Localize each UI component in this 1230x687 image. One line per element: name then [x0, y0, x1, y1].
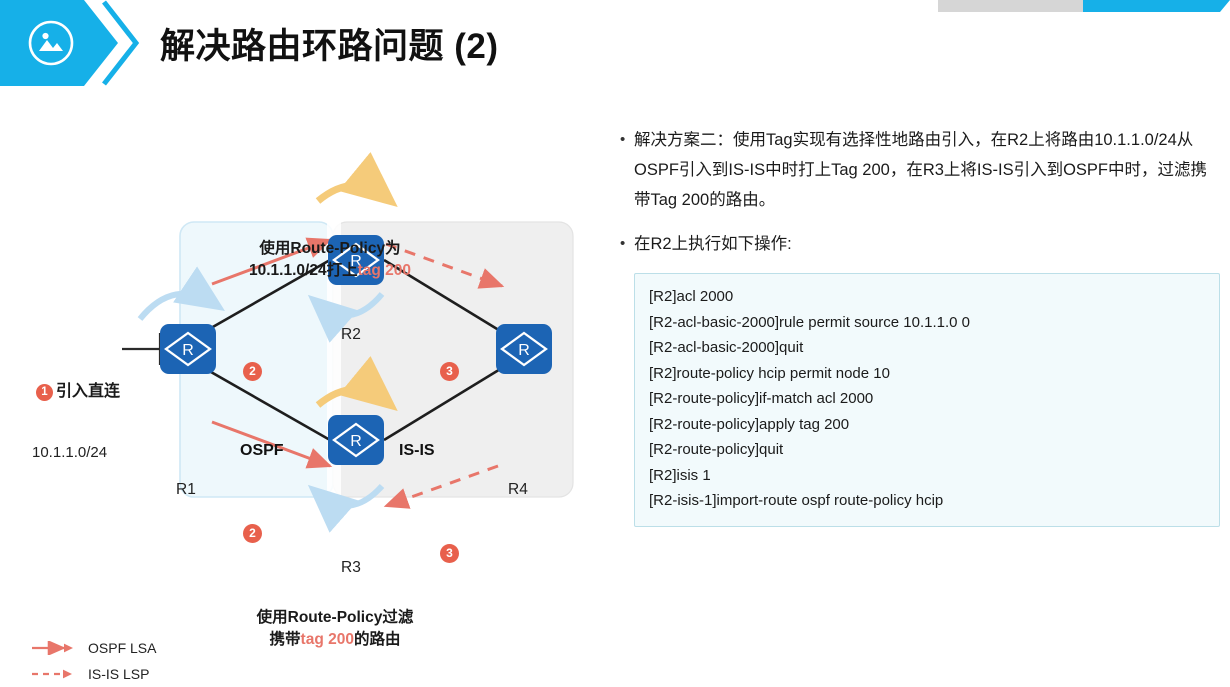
bullet-solution-text: 解决方案二：使用Tag实现有选择性地路由引入，在R2上将路由10.1.1.0/2… — [634, 125, 1220, 215]
header-chevron-icon — [100, 0, 144, 86]
introduce-text: 引入直连 — [56, 383, 120, 400]
zone-label-ospf: OSPF — [240, 442, 284, 460]
annotation-top-tag: tag 200 — [358, 262, 411, 279]
cli-line: [R2-route-policy]apply tag 200 — [649, 412, 1205, 438]
legend-label-ospf: OSPF LSA — [88, 640, 156, 656]
cli-line: [R2-route-policy]quit — [649, 437, 1205, 463]
curve-tag-above-r2 — [318, 185, 388, 201]
router-label-r1: R1 — [176, 481, 196, 499]
step-badge-1: 1 — [36, 384, 53, 401]
annotation-bottom-line1: 使用Route-Policy过滤 — [257, 609, 414, 626]
legend-row-ospf: OSPF LSA — [30, 635, 156, 661]
cli-line: [R2]route-policy hcip permit node 10 — [649, 361, 1205, 387]
router-label-r4: R4 — [508, 481, 528, 499]
router-label-r2: R2 — [341, 326, 361, 344]
cli-line: [R2-acl-basic-2000]rule permit source 10… — [649, 310, 1205, 336]
step-badge-3-upper: 3 — [440, 362, 459, 381]
annotation-bottom-line2-suffix: 的路由 — [354, 631, 401, 648]
step-badge-2-lower: 2 — [243, 524, 262, 543]
cli-line: [R2-route-policy]if-match acl 2000 — [649, 386, 1205, 412]
decorative-progress-bar — [938, 0, 1230, 12]
annotation-top: 使用Route-Policy为 10.1.1.0/24打上tag 200 — [185, 238, 475, 282]
legend-dashed-arrow-icon — [30, 667, 76, 681]
svg-text:R: R — [182, 342, 194, 359]
cli-command-box[interactable]: [R2]acl 2000 [R2-acl-basic-2000]rule per… — [634, 273, 1220, 527]
router-r3: R — [328, 415, 384, 465]
cli-line: [R2]acl 2000 — [649, 284, 1205, 310]
image-picture-icon — [26, 18, 76, 68]
legend-row-isis: IS-IS LSP — [30, 661, 156, 687]
router-r1: R — [160, 324, 216, 374]
step-badge-2-upper: 2 — [243, 362, 262, 381]
label-introduce-direct: 1引入直连 — [36, 377, 120, 401]
bullet-operations-text: 在R2上执行如下操作: — [634, 229, 792, 259]
bullet-marker: • — [620, 229, 634, 259]
legend-label-isis: IS-IS LSP — [88, 666, 149, 682]
cli-line: [R2-acl-basic-2000]quit — [649, 335, 1205, 361]
annotation-bottom: 使用Route-Policy过滤 携带tag 200的路由 — [190, 607, 480, 651]
annotation-bottom-line2-prefix: 携带 — [270, 631, 301, 648]
annotation-bottom-tag: tag 200 — [301, 631, 354, 648]
label-network-prefix: 10.1.1.0/24 — [32, 444, 107, 461]
network-topology-diagram: R R R R 使用Route-Policy为 10.1.1.0/24打上tag… — [0, 104, 610, 611]
bullet-marker: • — [620, 125, 634, 155]
slide-header: 解决路由环路问题 (2) — [0, 0, 499, 86]
zone-label-isis: IS-IS — [399, 442, 435, 460]
cli-line: [R2-isis-1]import-route ospf route-polic… — [649, 488, 1205, 514]
cli-line: [R2]isis 1 — [649, 463, 1205, 489]
annotation-top-line2-prefix: 10.1.1.0/24打上 — [249, 262, 358, 279]
router-r4: R — [496, 324, 552, 374]
header-banner-shape — [0, 0, 150, 86]
svg-text:R: R — [350, 433, 362, 450]
deco-segment-grey — [938, 0, 1083, 12]
topology-svg: R R R R — [0, 104, 610, 611]
bullet-solution: • 解决方案二：使用Tag实现有选择性地路由引入，在R2上将路由10.1.1.0… — [620, 125, 1220, 215]
deco-segment-cyan — [1083, 0, 1230, 12]
page-title: 解决路由环路问题 (2) — [160, 18, 499, 69]
content-column: • 解决方案二：使用Tag实现有选择性地路由引入，在R2上将路由10.1.1.0… — [620, 125, 1220, 527]
legend-solid-arrow-icon — [30, 641, 76, 655]
router-label-r3: R3 — [341, 559, 361, 577]
annotation-top-line1: 使用Route-Policy为 — [259, 240, 400, 257]
diagram-legend: OSPF LSA IS-IS LSP — [30, 635, 156, 687]
step-badge-3-lower: 3 — [440, 544, 459, 563]
svg-text:R: R — [518, 342, 530, 359]
bullet-operations: • 在R2上执行如下操作: — [620, 229, 1220, 259]
